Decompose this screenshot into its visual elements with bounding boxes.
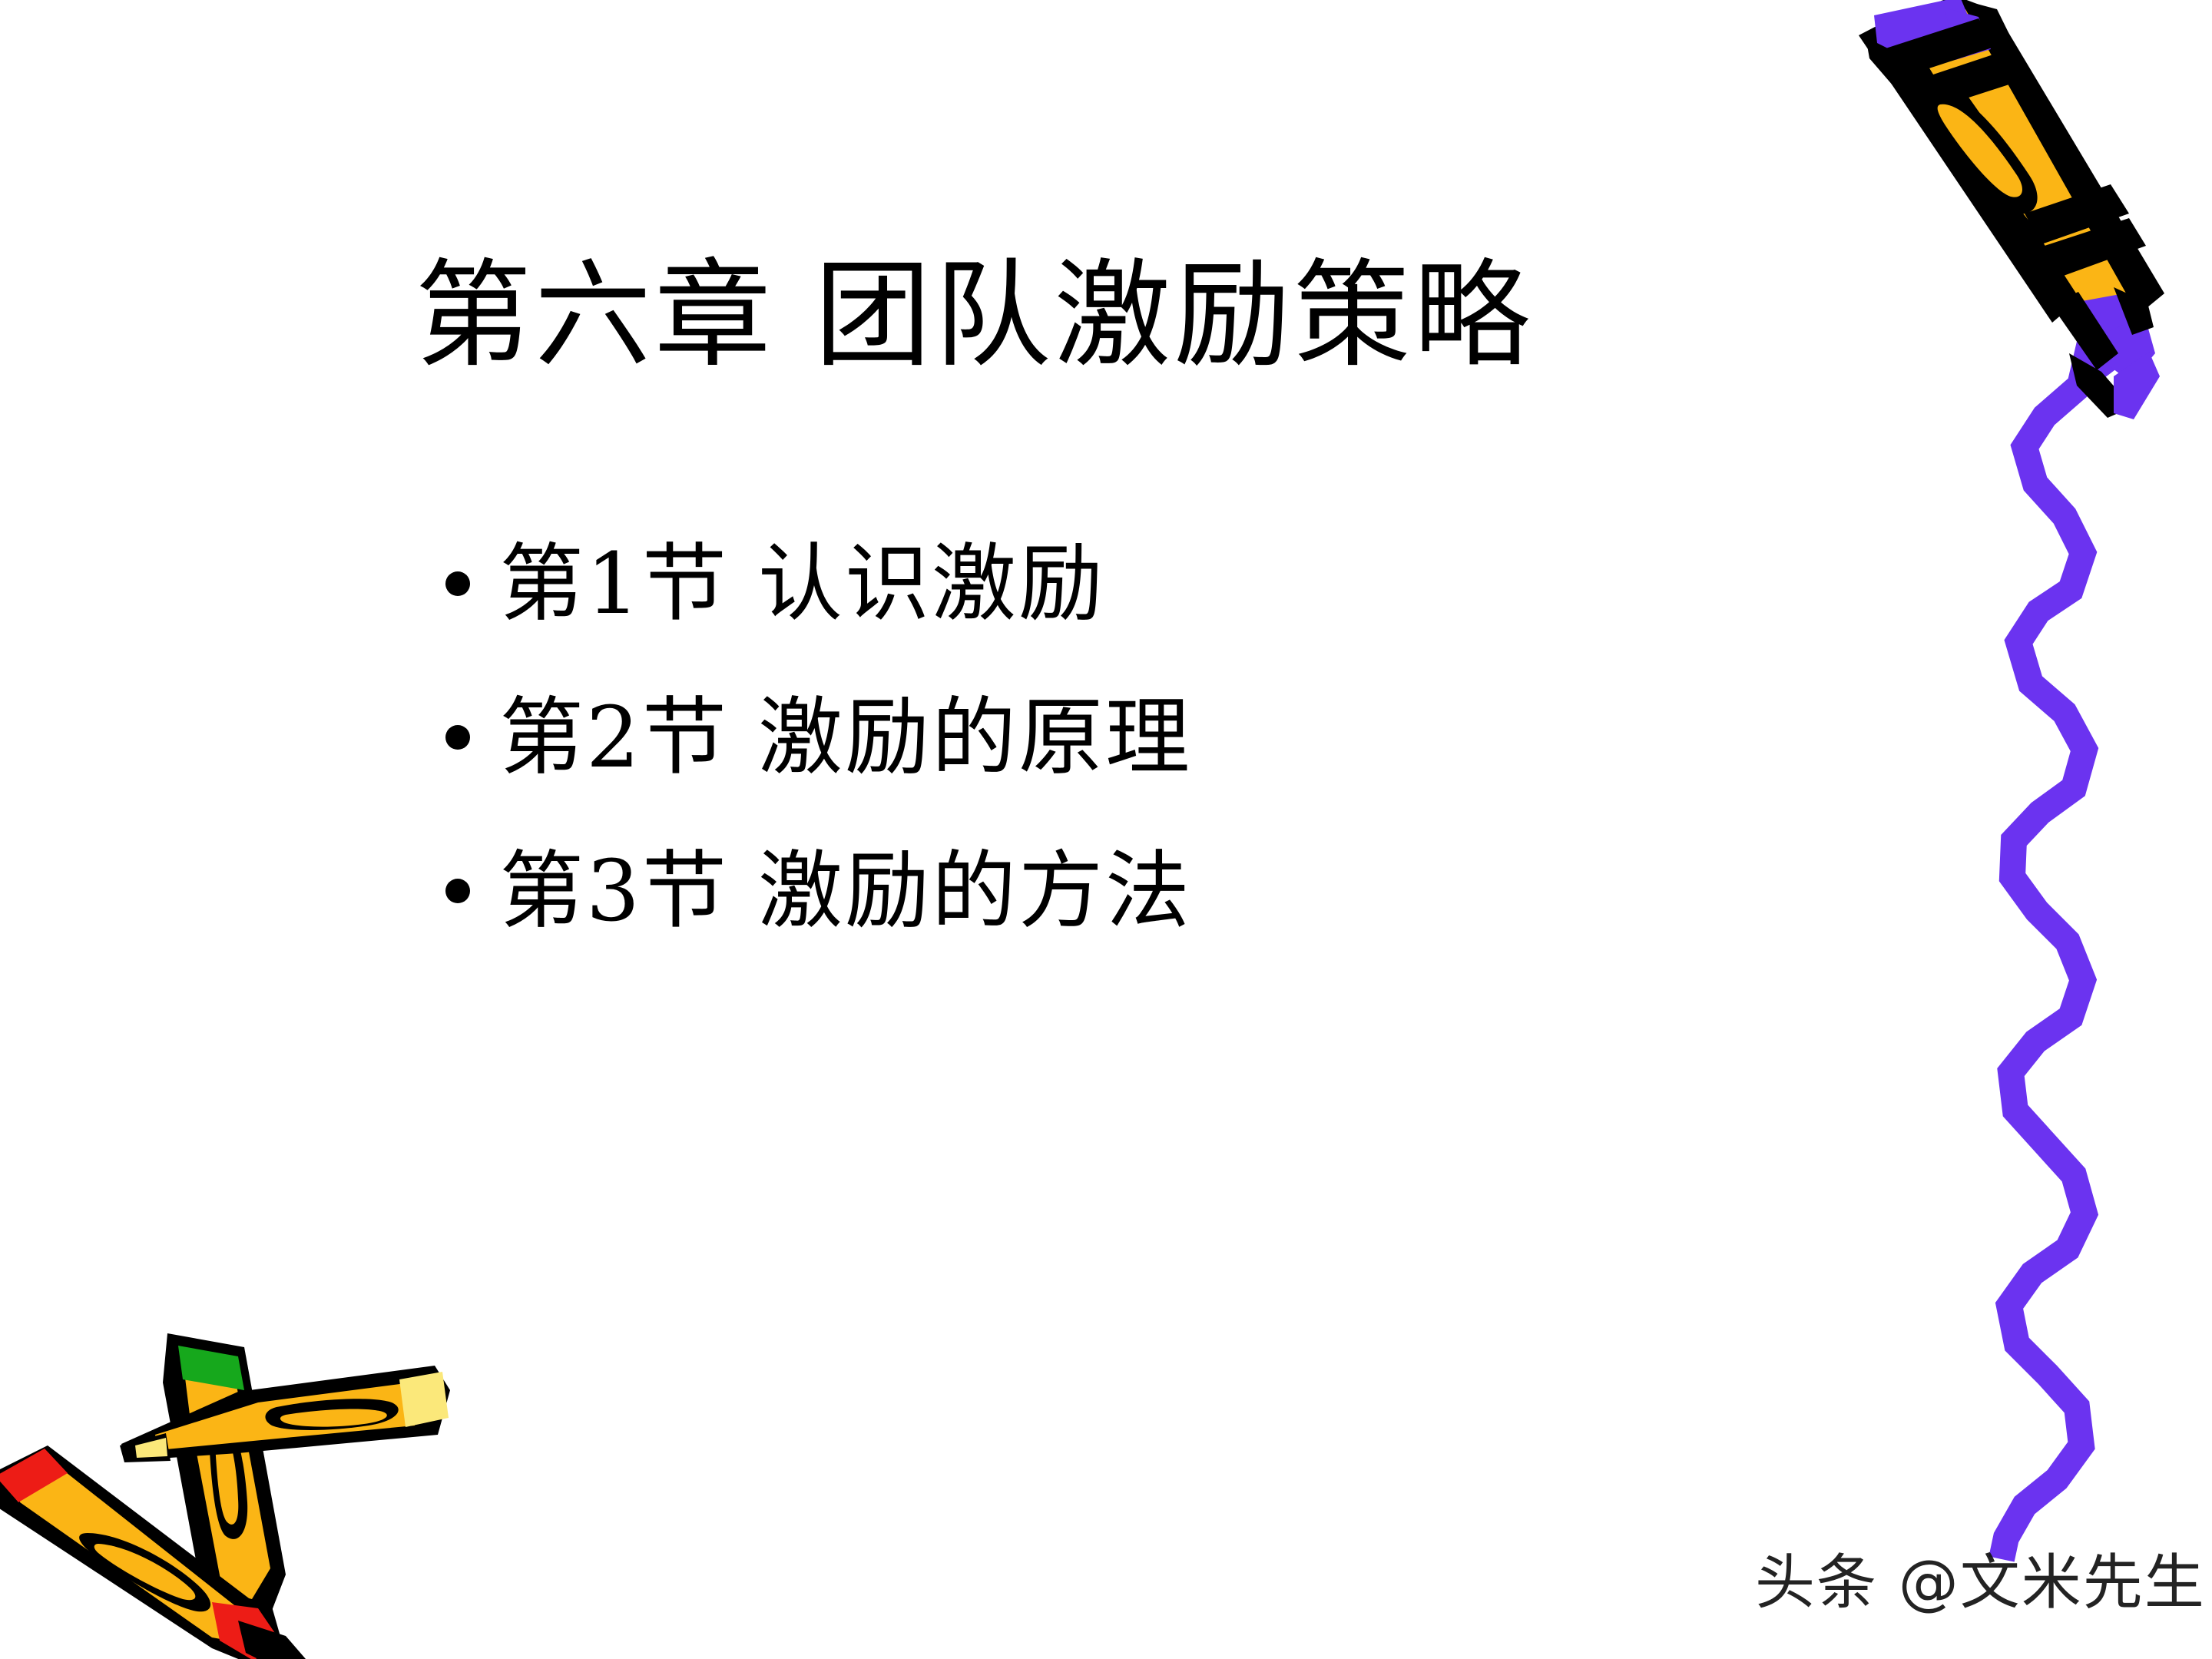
purple-crayon-drawing-illustration [1843, 0, 2212, 1621]
list-item[interactable]: 第3节 激励的方法 [445, 814, 1674, 968]
page-title: 第六章 团队激励策略 [415, 244, 1720, 386]
watermark-text: 头条 @文米先生 [1755, 1553, 2206, 1613]
crayon-green [163, 1333, 286, 1659]
list-item-label: 第2节 激励的原理 [499, 695, 1192, 780]
bullet-dot-icon [445, 879, 499, 903]
slide-canvas: 第六章 团队激励策略 第1节 认识激励 第2节 激励的原理 第3节 激励的方法 … [0, 0, 2212, 1659]
crayon-red [0, 1445, 306, 1659]
bullet-dot-icon [445, 571, 499, 596]
purple-squiggle-stroke [2002, 286, 2091, 1559]
list-item[interactable]: 第2节 激励的原理 [445, 661, 1674, 814]
list-item-label: 第3节 激励的方法 [499, 849, 1192, 933]
crayon-yellow [120, 1366, 450, 1462]
section-list: 第1节 认识激励 第2节 激励的原理 第3节 激励的方法 [445, 507, 1674, 968]
crayon-body [1859, 0, 2164, 419]
bullet-dot-icon [445, 725, 499, 750]
crossed-crayons-illustration [0, 1298, 507, 1659]
list-item[interactable]: 第1节 认识激励 [445, 507, 1674, 661]
list-item-label: 第1节 认识激励 [499, 541, 1105, 626]
